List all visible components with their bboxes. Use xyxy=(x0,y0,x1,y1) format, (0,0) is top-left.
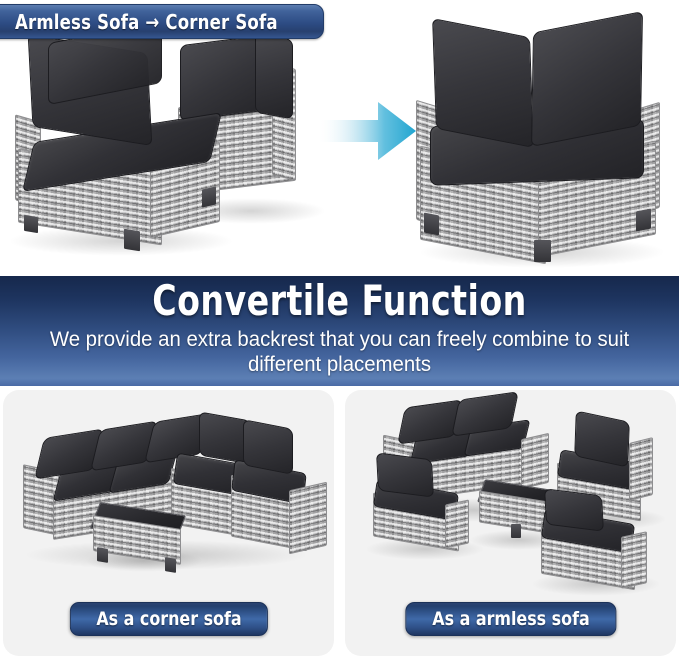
spare-backrest-cushion-side xyxy=(255,33,293,120)
armless-arrangement-photo xyxy=(345,390,676,595)
loveseat-side-right xyxy=(521,433,549,489)
corner-arrangement-photo xyxy=(3,390,334,595)
armless-sofa-photo xyxy=(0,30,316,270)
coffee-table-leg-left xyxy=(97,547,108,563)
top-comparison-section: Armless Sofa → Corner Sofa xyxy=(0,0,679,276)
corner-leg-center xyxy=(534,240,551,262)
corner-backrest-cushion-left xyxy=(432,18,534,148)
right-run-armrest xyxy=(289,482,327,555)
sofa-leg-front-left xyxy=(24,215,38,233)
sofa-leg-back-right xyxy=(202,186,216,207)
configuration-panels-section: As a corner sofa xyxy=(0,386,679,659)
corner-sofa-photo xyxy=(404,18,676,276)
right-run-back-1 xyxy=(243,419,293,475)
coffee-table-leg-right xyxy=(165,557,176,573)
caption-armless-sofa-label: As a armless sofa xyxy=(432,608,589,630)
corner-backrest-cushion-right xyxy=(531,11,643,147)
corner-leg-right xyxy=(636,209,651,232)
top-title-badge: Armless Sofa → Corner Sofa xyxy=(0,4,324,39)
panel-armless-sofa: As a armless sofa xyxy=(345,390,676,656)
headline-banner: Convertile Function We provide an extra … xyxy=(0,276,679,386)
chair-bottomright-side xyxy=(621,531,647,589)
caption-armless-sofa: As a armless sofa xyxy=(405,602,616,636)
caption-corner-sofa: As a corner sofa xyxy=(69,602,267,636)
corner-leg-left xyxy=(424,213,439,236)
right-coffee-table-leg xyxy=(511,524,521,538)
product-feature-image: Armless Sofa → Corner Sofa Convertile Fu… xyxy=(0,0,679,659)
top-title-label: Armless Sofa → Corner Sofa xyxy=(15,10,278,34)
sofa-leg-front-right xyxy=(124,229,140,252)
headline-title: Convertile Function xyxy=(41,276,639,324)
headline-subtitle: We provide an extra backrest that you ca… xyxy=(10,324,669,377)
panel-corner-sofa: As a corner sofa xyxy=(3,390,334,656)
chair-bottomright-back xyxy=(544,488,604,531)
caption-corner-sofa-label: As a corner sofa xyxy=(96,608,241,630)
chair-left-back xyxy=(376,452,434,497)
chair-left-side xyxy=(445,499,469,548)
right-arrow-icon xyxy=(318,98,416,164)
chair-topright-side xyxy=(629,437,653,501)
